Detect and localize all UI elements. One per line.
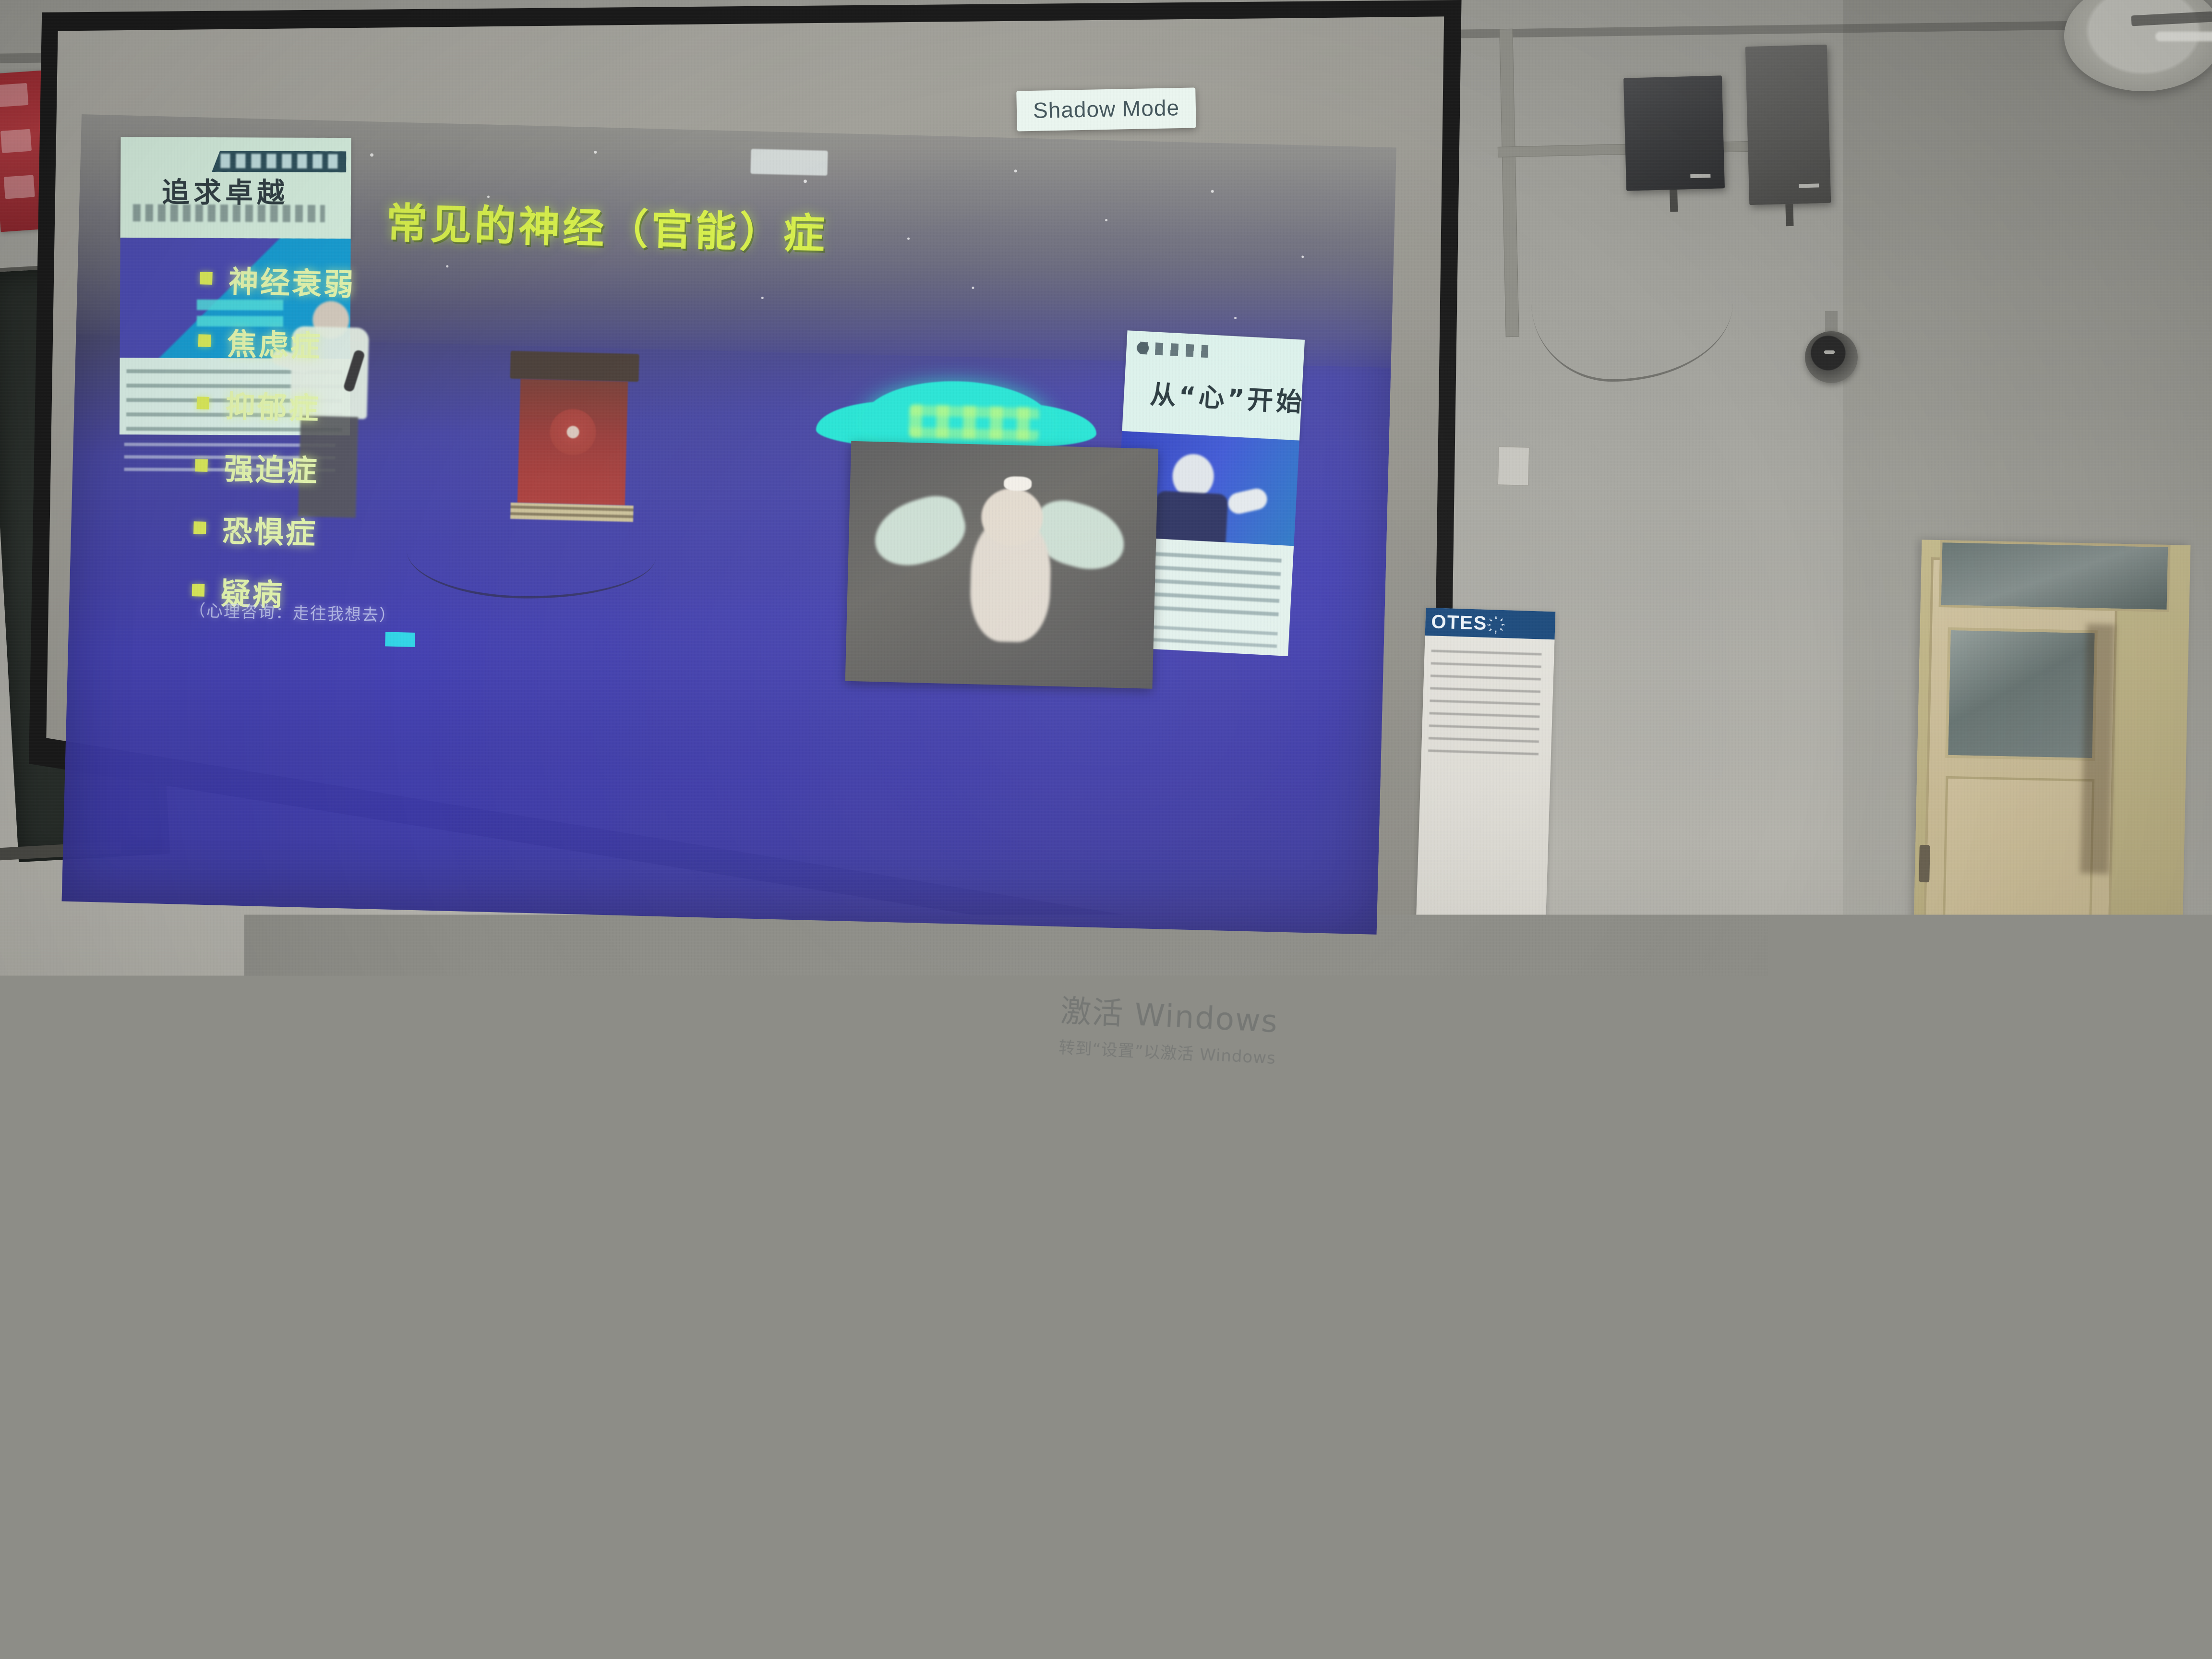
slide-bullet-item: 焦虑症: [198, 319, 354, 366]
slide-bullet-label: 神经衰弱: [228, 257, 356, 304]
fan-light-glint: [2155, 32, 2212, 41]
lecture-desk: [0, 1387, 237, 1483]
speaker-brand-mark: [1799, 183, 1819, 188]
door-grime: [2059, 989, 2117, 1046]
slide-bullet-item: 神经衰弱: [199, 256, 356, 303]
slide-bullet-label: 强迫症: [223, 445, 319, 490]
baby-angel-photo: [845, 441, 1158, 689]
paper-cup: [890, 1205, 943, 1267]
slide-title: 常见的神经（官能）症: [385, 189, 829, 260]
shadow-mode-label[interactable]: Shadow Mode: [1016, 87, 1196, 131]
wall-speaker: [1623, 75, 1725, 191]
slide-bullet-item: 恐惧症: [193, 506, 349, 553]
panel-left-subtitle: [133, 204, 325, 222]
panel-left-ribbon-text: [220, 154, 340, 168]
bullet-square-icon: [192, 584, 205, 597]
bullet-square-icon: [197, 397, 210, 409]
screen-reflection-artifact: [750, 149, 828, 176]
bullet-square-icon: [198, 334, 211, 347]
dome-camera-icon: [1805, 331, 1858, 383]
slide-bullet-label: 焦虑症: [227, 320, 323, 365]
door-lower-panel: [1941, 776, 2095, 1024]
door-handle[interactable]: [1919, 845, 1930, 882]
wall-speaker: [1745, 45, 1831, 205]
slide-bullet-item: 强迫症: [194, 444, 351, 491]
slide-bullet-label: 抑郁症: [225, 382, 321, 428]
slide-bullet-item: 抑郁症: [196, 381, 353, 428]
camera-glint: [1824, 350, 1835, 354]
lecture-desk: [1608, 1189, 1868, 1255]
speaker-bracket: [1670, 190, 1678, 212]
stage-cable: [406, 550, 656, 601]
slide-podium: [513, 351, 633, 522]
bullet-square-icon: [193, 521, 206, 534]
front-table: [80, 1000, 333, 1131]
notice-board: OTES ҉: [1416, 608, 1556, 928]
notice-board-text: [1428, 646, 1542, 755]
bullet-square-icon: [195, 459, 208, 472]
hair-scrunchie: [1166, 1244, 1248, 1297]
baby-bow: [1004, 476, 1032, 491]
podium-base: [510, 503, 634, 522]
speaker-bracket: [1785, 204, 1793, 226]
cup-lid: [886, 1200, 948, 1213]
speaker-brand-mark: [1691, 174, 1711, 178]
podium-top: [510, 351, 639, 382]
notice-board-title: OTES: [1425, 611, 1488, 634]
slide-bullet-list: 神经衰弱 焦虑症 抑郁症 强迫症 恐惧症 疑病: [191, 256, 356, 635]
lecture-hall-photo: 追求卓越 从“心”开始: [0, 0, 2212, 1659]
door-glass-pane: [1945, 627, 2098, 761]
notice-board-header: OTES ҉: [1425, 608, 1556, 639]
bullet-square-icon: [200, 272, 213, 285]
swirl-ornament-icon: ҉: [1496, 613, 1496, 635]
door-transom-glass: [1939, 540, 2171, 612]
cloud-callout-text: [909, 404, 1040, 441]
slide-footnote-badge: [385, 632, 415, 647]
angel-wing-left-icon: [866, 489, 973, 575]
projected-slide: 追求卓越 从“心”开始: [62, 114, 1397, 935]
slide-bullet-label: 恐惧症: [222, 507, 318, 553]
light-switch-plate[interactable]: [1497, 446, 1530, 486]
